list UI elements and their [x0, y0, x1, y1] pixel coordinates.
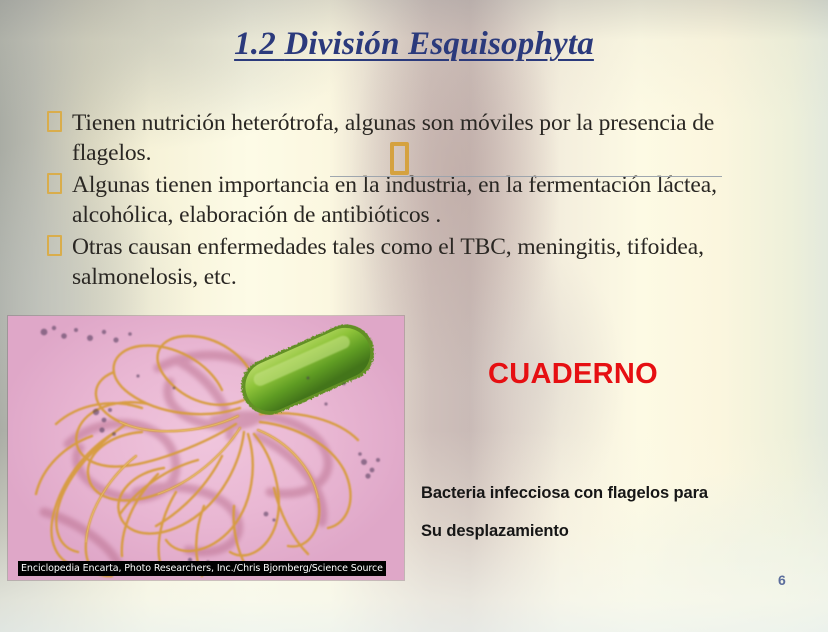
slide-title-text: División Esquisophyta [284, 26, 594, 62]
bullet-text: Algunas tienen importancia en la industr… [72, 170, 772, 230]
bullet-text: Tienen nutrición heterótrofa, algunas so… [72, 108, 772, 168]
photo-vector-content [8, 316, 404, 580]
slide-page-number: 6 [778, 572, 786, 588]
bullet-marker-icon [42, 170, 72, 200]
slide-title: 1.2 División Esquisophyta [0, 26, 828, 63]
cuaderno-heading: CUADERNO [488, 358, 658, 391]
photo-description-block: Bacteria infecciosa con flagelos para Su… [421, 474, 821, 550]
stray-missing-glyph-icon [390, 142, 409, 175]
bullet-list: Tienen nutrición heterótrofa, algunas so… [42, 108, 772, 294]
bullet-item: Otras causan enfermedades tales como el … [42, 232, 772, 292]
bacteria-micrograph-image: Enciclopedia Encarta, Photo Researchers,… [8, 316, 404, 580]
bullet-item: Algunas tienen importancia en la industr… [42, 170, 772, 230]
bullet-marker-icon [42, 108, 72, 138]
photo-description-line-1: Bacteria infecciosa con flagelos para [421, 474, 821, 512]
photo-credit-caption: Enciclopedia Encarta, Photo Researchers,… [18, 561, 386, 576]
stray-horizontal-rule [330, 176, 722, 177]
bullet-marker-icon [42, 232, 72, 262]
photo-description-line-2: Su desplazamiento [421, 512, 821, 550]
slide-title-number: 1.2 [234, 26, 284, 62]
bullet-text: Otras causan enfermedades tales como el … [72, 232, 772, 292]
slide-canvas: 1.2 División Esquisophyta Tienen nutrici… [0, 0, 828, 632]
